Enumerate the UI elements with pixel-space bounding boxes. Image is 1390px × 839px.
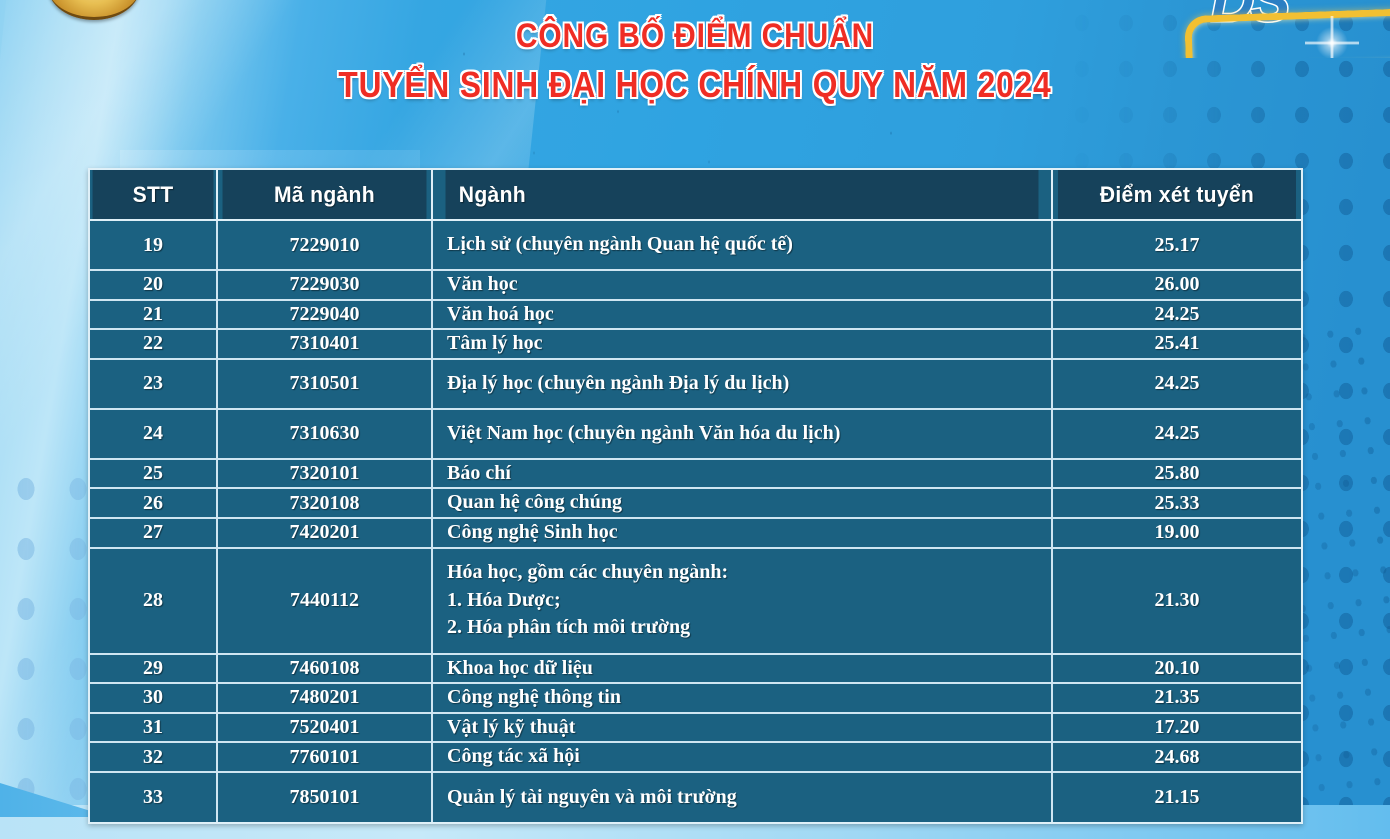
page-title: CÔNG BỐ ĐIỂM CHUẨN TUYỂN SINH ĐẠI HỌC CH…	[0, 16, 1390, 107]
table-row: 297460108Khoa học dữ liệu20.10	[90, 654, 1301, 684]
cell-score: 21.15	[1052, 772, 1301, 822]
cell-major: Quan hệ công chúng	[432, 488, 1052, 518]
cell-stt: 32	[90, 742, 217, 772]
cell-major: Công nghệ Sinh học	[432, 518, 1052, 548]
major-line: Báo chí	[447, 460, 1043, 488]
cell-stt: 28	[90, 548, 217, 654]
cell-major: Việt Nam học (chuyên ngành Văn hóa du lị…	[432, 409, 1052, 459]
major-line: Lịch sử (chuyên ngành Quan hệ quốc tế)	[447, 231, 1043, 259]
major-line: Hóa học, gồm các chuyên ngành:	[447, 559, 1043, 587]
cell-major: Quản lý tài nguyên và môi trường	[432, 772, 1052, 822]
cell-stt: 26	[90, 488, 217, 518]
major-line: Văn học	[447, 271, 1043, 299]
table-row: 257320101Báo chí25.80	[90, 459, 1301, 489]
cell-code: 7480201	[217, 683, 432, 713]
table-row: 207229030Văn học26.00	[90, 270, 1301, 300]
cell-score: 25.33	[1052, 488, 1301, 518]
table-row: 267320108Quan hệ công chúng25.33	[90, 488, 1301, 518]
cell-stt: 30	[90, 683, 217, 713]
major-line: Địa lý học (chuyên ngành Địa lý du lịch)	[447, 370, 1043, 398]
major-line: 2. Hóa phân tích môi trường	[447, 614, 1043, 642]
column-header-code: Mã ngành	[221, 170, 427, 220]
cell-stt: 23	[90, 359, 217, 409]
cell-code: 7320108	[217, 488, 432, 518]
table-row: 307480201Công nghệ thông tin21.35	[90, 683, 1301, 713]
table-row: 317520401Vật lý kỹ thuật17.20	[90, 713, 1301, 743]
table-row: 247310630Việt Nam học (chuyên ngành Văn …	[90, 409, 1301, 459]
cell-stt: 25	[90, 459, 217, 489]
cell-code: 7520401	[217, 713, 432, 743]
cell-code: 7440112	[217, 548, 432, 654]
cell-score: 21.35	[1052, 683, 1301, 713]
title-line-2: TUYỂN SINH ĐẠI HỌC CHÍNH QUY NĂM 2024	[83, 63, 1306, 107]
header-row: STT Mã ngành Ngành Điểm xét tuyển	[90, 170, 1301, 220]
cell-stt: 33	[90, 772, 217, 822]
cell-major: Báo chí	[432, 459, 1052, 489]
cell-code: 7229040	[217, 300, 432, 330]
table-row: 287440112Hóa học, gồm các chuyên ngành:1…	[90, 548, 1301, 654]
cell-score: 24.25	[1052, 300, 1301, 330]
cell-score: 24.68	[1052, 742, 1301, 772]
cell-score: 24.25	[1052, 409, 1301, 459]
cell-score: 20.10	[1052, 654, 1301, 684]
major-line: Quản lý tài nguyên và môi trường	[447, 784, 1043, 812]
cell-major: Địa lý học (chuyên ngành Địa lý du lịch)	[432, 359, 1052, 409]
cell-code: 7420201	[217, 518, 432, 548]
cell-major: Tâm lý học	[432, 329, 1052, 359]
cell-stt: 21	[90, 300, 217, 330]
cell-score: 19.00	[1052, 518, 1301, 548]
cell-major: Khoa học dữ liệu	[432, 654, 1052, 684]
cell-code: 7760101	[217, 742, 432, 772]
scores-table: STT Mã ngành Ngành Điểm xét tuyển 197229…	[90, 170, 1301, 822]
cell-major: Văn hoá học	[432, 300, 1052, 330]
major-line: Văn hoá học	[447, 301, 1043, 329]
cell-score: 25.80	[1052, 459, 1301, 489]
admission-scores-table: STT Mã ngành Ngành Điểm xét tuyển 197229…	[88, 168, 1303, 824]
title-line-1: CÔNG BỐ ĐIỂM CHUẨN	[83, 16, 1306, 57]
major-line: 1. Hóa Dược;	[447, 587, 1043, 615]
cell-major: Lịch sử (chuyên ngành Quan hệ quốc tế)	[432, 220, 1052, 270]
cell-stt: 24	[90, 409, 217, 459]
cell-score: 17.20	[1052, 713, 1301, 743]
table-row: 277420201Công nghệ Sinh học19.00	[90, 518, 1301, 548]
major-line: Việt Nam học (chuyên ngành Văn hóa du lị…	[447, 420, 1043, 448]
major-line: Tâm lý học	[447, 330, 1043, 358]
cell-code: 7460108	[217, 654, 432, 684]
cell-code: 7229010	[217, 220, 432, 270]
table-row: 227310401Tâm lý học25.41	[90, 329, 1301, 359]
cell-code: 7229030	[217, 270, 432, 300]
table-row: 217229040Văn hoá học24.25	[90, 300, 1301, 330]
major-line: Công nghệ thông tin	[447, 684, 1043, 712]
cell-stt: 29	[90, 654, 217, 684]
cell-code: 7320101	[217, 459, 432, 489]
cell-score: 25.41	[1052, 329, 1301, 359]
table-header: STT Mã ngành Ngành Điểm xét tuyển	[90, 170, 1301, 220]
cell-major: Hóa học, gồm các chuyên ngành:1. Hóa Dượ…	[432, 548, 1052, 654]
cell-code: 7850101	[217, 772, 432, 822]
cell-major: Công tác xã hội	[432, 742, 1052, 772]
cell-stt: 19	[90, 220, 217, 270]
cell-stt: 31	[90, 713, 217, 743]
cell-stt: 20	[90, 270, 217, 300]
cell-stt: 27	[90, 518, 217, 548]
cell-score: 21.30	[1052, 548, 1301, 654]
cell-code: 7310630	[217, 409, 432, 459]
table-body: 197229010Lịch sử (chuyên ngành Quan hệ q…	[90, 220, 1301, 822]
cell-code: 7310401	[217, 329, 432, 359]
major-line: Quan hệ công chúng	[447, 489, 1043, 517]
major-line: Công tác xã hội	[447, 743, 1043, 771]
cell-stt: 22	[90, 329, 217, 359]
major-line: Khoa học dữ liệu	[447, 655, 1043, 683]
column-header-stt: STT	[93, 170, 215, 220]
table-row: 237310501Địa lý học (chuyên ngành Địa lý…	[90, 359, 1301, 409]
major-line: Vật lý kỹ thuật	[447, 714, 1043, 742]
column-header-major: Ngành	[444, 170, 1039, 220]
table-row: 337850101Quản lý tài nguyên và môi trườn…	[90, 772, 1301, 822]
cell-code: 7310501	[217, 359, 432, 409]
cell-major: Văn học	[432, 270, 1052, 300]
table-row: 327760101Công tác xã hội24.68	[90, 742, 1301, 772]
cell-major: Công nghệ thông tin	[432, 683, 1052, 713]
column-header-score: Điểm xét tuyển	[1057, 170, 1296, 220]
cell-score: 25.17	[1052, 220, 1301, 270]
table-row: 197229010Lịch sử (chuyên ngành Quan hệ q…	[90, 220, 1301, 270]
cell-major: Vật lý kỹ thuật	[432, 713, 1052, 743]
cell-score: 24.25	[1052, 359, 1301, 409]
major-line: Công nghệ Sinh học	[447, 519, 1043, 547]
cell-score: 26.00	[1052, 270, 1301, 300]
